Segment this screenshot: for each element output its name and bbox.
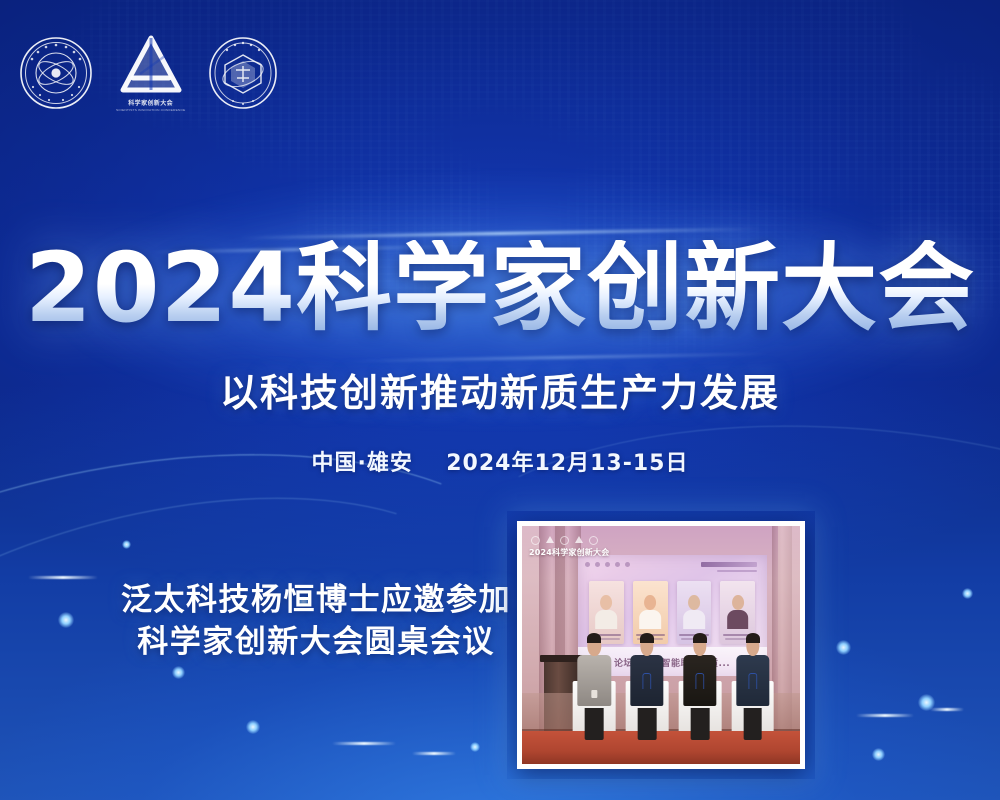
photo-content: 论坛：人工智能助力新质... [522,526,800,764]
venue-sign-text: 2024科学家创新大会 [529,547,629,558]
speaker-head [732,595,744,610]
caption-block: 泛太科技杨恒博士应邀参加 科学家创新大会圆桌会议 [116,580,516,664]
mesh-node [872,748,885,761]
light-dash [856,714,914,717]
caption-line-1: 泛太科技杨恒博士应邀参加 [116,580,516,622]
mesh-node [836,640,851,655]
light-dash [332,742,396,745]
panelist [630,636,663,731]
screen-event-logo [701,562,757,567]
speaker-head [644,595,656,610]
conference-poster: 科学家创新大会 SCIENTISTS INNOVATION CONFERENCE [0,0,1000,800]
event-meta: 中国·雄安 2024年12月13-15日 [0,445,1000,477]
panelist-legs [585,708,604,740]
logo-row: 科学家创新大会 SCIENTISTS INNOVATION CONFERENCE [18,34,279,112]
panelist-hair [746,633,760,643]
venue-sign-icons [529,536,629,545]
mesh-node [122,540,131,549]
title-block: 2024科学家创新大会 以科技创新推动新质生产力发展 中国·雄安 2024年12… [0,240,1000,477]
logo-caption: 科学家创新大会 [128,98,173,107]
seal-icon [560,536,569,545]
screen-dot-icon [625,562,630,567]
light-dash [930,708,964,711]
speaker-body [596,610,618,629]
speaker-card-row [589,581,755,644]
page-subtitle: 以科技创新推动新质生产力发展 [0,362,1000,417]
mesh-node [962,588,973,599]
triangle-icon [575,536,583,543]
panelist-lanyard [748,673,757,689]
panelist-legs [743,708,762,740]
event-date: 2024年12月13-15日 [446,451,688,476]
panelist-lanyard [642,673,651,689]
screen-dot-icon [615,562,620,567]
panelist-lanyard [695,673,704,689]
screen-event-logo-sub [717,570,757,572]
screen-dot-icon [605,562,610,567]
screen-dot-icon [585,562,590,567]
roundtable-panel-photo: 论坛：人工智能助力新质... [517,521,805,769]
panelist-hair [587,633,601,643]
mesh-node [246,720,260,734]
seal-icon [589,536,598,545]
mesh-node [470,742,480,752]
caption-line-2: 科学家创新大会圆桌会议 [116,622,516,664]
speaker-body [639,610,661,629]
speaker-head [688,595,700,610]
panelist-legs [691,708,710,740]
panelist-legs [638,708,657,740]
speaker-body [727,610,749,629]
screen-dot-icon [595,562,600,567]
conference-triangle-logo: 科学家创新大会 SCIENTISTS INNOVATION CONFERENCE [116,34,185,112]
panelist-hair [693,633,707,643]
light-dash [28,576,98,579]
academy-seal-logo [207,35,279,111]
panelist [578,636,611,731]
venue-wall-sign: 2024科学家创新大会 [529,536,629,558]
screen-logo-dots [585,562,630,567]
mesh-node [58,612,74,628]
panelist-badge [592,690,597,699]
light-dash [412,752,456,755]
panelist [683,636,716,731]
logo-subcaption: SCIENTISTS INNOVATION CONFERENCE [116,108,185,112]
triangle-icon [546,536,554,543]
speaker-head [600,595,612,610]
seal-icon [531,536,540,545]
speaker-body [683,610,705,629]
page-title: 2024科学家创新大会 [0,240,1000,336]
panelist-hair [640,633,654,643]
mesh-node [172,666,185,679]
panelist [736,636,769,731]
cast-seal-logo [18,35,94,111]
event-location: 中国·雄安 [312,451,413,476]
